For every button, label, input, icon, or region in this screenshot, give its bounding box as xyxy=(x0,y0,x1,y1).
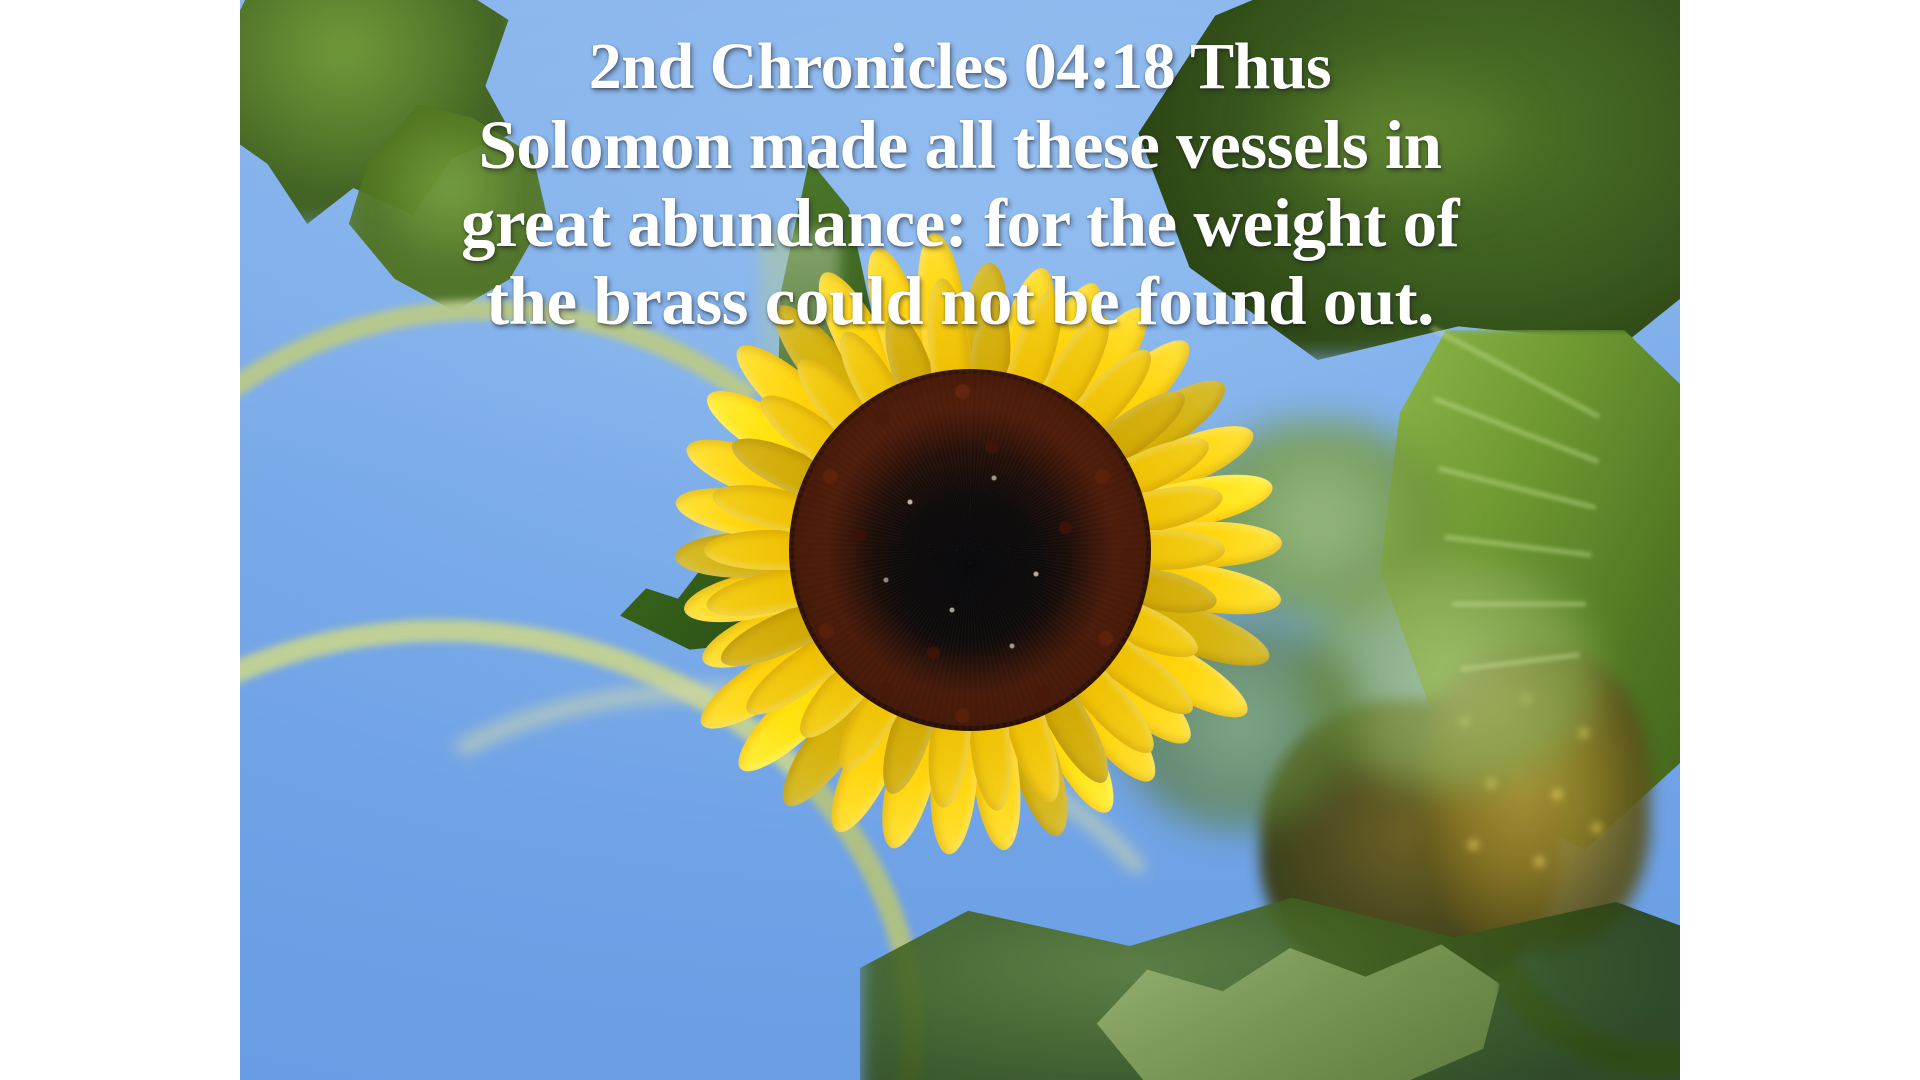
leaf-vein xyxy=(1452,602,1586,606)
disc-highlights xyxy=(820,400,1120,700)
slide-canvas: 2nd Chronicles 04:18 Thus Solomon made a… xyxy=(0,0,1920,1080)
verse-line-4: the brass could not be found out. xyxy=(240,262,1680,340)
verse-line-3: great abundance: for the weight of xyxy=(240,184,1680,262)
verse-line-1: 2nd Chronicles 04:18 Thus xyxy=(240,28,1680,106)
verse-overlay-text: 2nd Chronicles 04:18 Thus Solomon made a… xyxy=(240,28,1680,340)
verse-line-2: Solomon made all these vessels in xyxy=(240,106,1680,184)
